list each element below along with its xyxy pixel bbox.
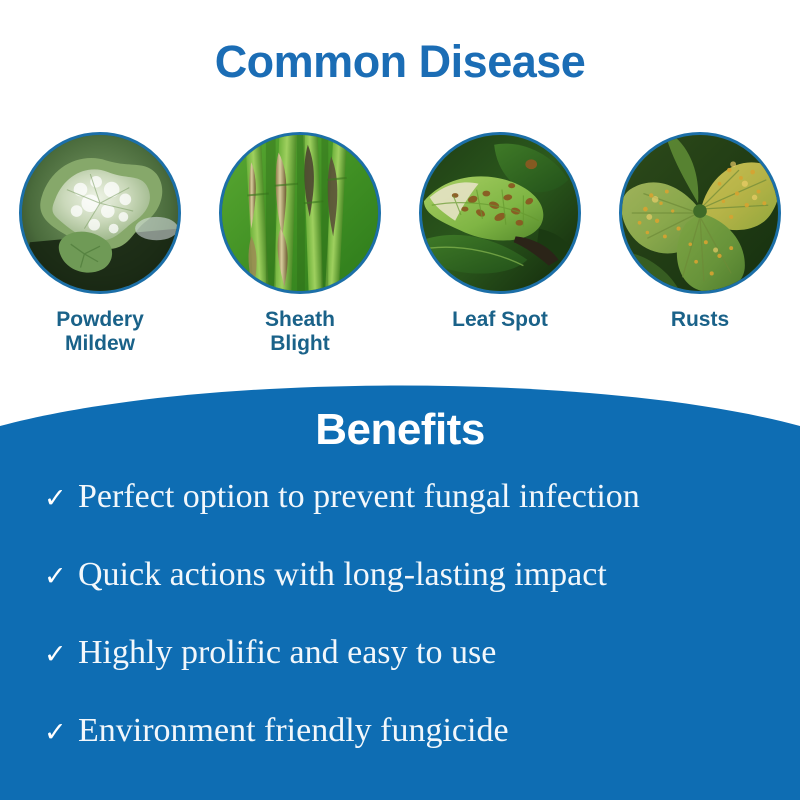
benefit-item: ✓ Perfect option to prevent fungal infec… <box>44 480 764 558</box>
benefits-list: ✓ Perfect option to prevent fungal infec… <box>44 480 764 792</box>
disease-label: Rusts <box>671 308 729 332</box>
check-icon: ✓ <box>44 641 78 668</box>
disease-card-sheath-blight[interactable]: Sheath Blight <box>205 132 395 355</box>
leaf-spot-photo <box>419 132 581 294</box>
disease-card-rusts[interactable]: Rusts <box>605 132 795 332</box>
disease-label: Powdery Mildew <box>56 308 144 355</box>
disease-card-leaf-spot[interactable]: Leaf Spot <box>405 132 595 332</box>
check-icon: ✓ <box>44 719 78 746</box>
benefit-text: Perfect option to prevent fungal infecti… <box>78 480 764 514</box>
benefits-section: Benefits ✓ Perfect option to prevent fun… <box>0 404 800 800</box>
benefit-item: ✓ Quick actions with long-lasting impact <box>44 558 764 636</box>
disease-label: Leaf Spot <box>452 308 548 332</box>
benefits-title: Benefits <box>0 404 800 452</box>
disease-list: Powdery Mildew <box>0 132 800 372</box>
disease-label: Sheath Blight <box>265 308 335 355</box>
common-disease-section: Common Disease <box>0 0 800 430</box>
benefit-text: Environment friendly fungicide <box>78 714 764 748</box>
benefit-text: Quick actions with long-lasting impact <box>78 558 764 592</box>
poster-root: Common Disease <box>0 0 800 800</box>
check-icon: ✓ <box>44 485 78 512</box>
page-title: Common Disease <box>0 36 800 88</box>
powdery-mildew-photo <box>19 132 181 294</box>
rusts-photo <box>619 132 781 294</box>
check-icon: ✓ <box>44 563 78 590</box>
sheath-blight-photo <box>219 132 381 294</box>
benefit-item: ✓ Highly prolific and easy to use <box>44 636 764 714</box>
disease-card-powdery-mildew[interactable]: Powdery Mildew <box>5 132 195 355</box>
benefit-text: Highly prolific and easy to use <box>78 636 764 670</box>
benefit-item: ✓ Environment friendly fungicide <box>44 714 764 792</box>
